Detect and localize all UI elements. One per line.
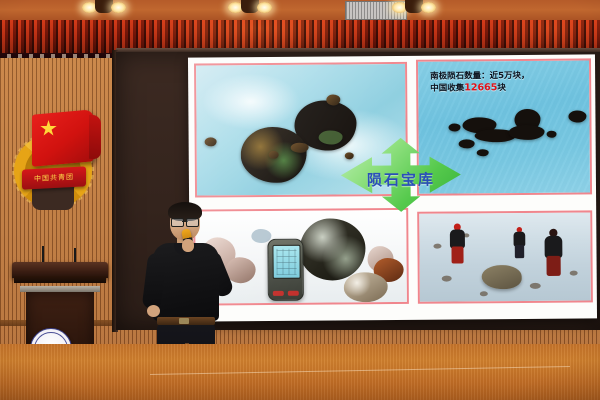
- caption-line-1: 南极陨石数量：近5万块，: [430, 71, 529, 82]
- caption-line-2-suffix: 块: [497, 84, 506, 94]
- photo-expedition-team: [419, 212, 591, 301]
- red-flag-icon: [32, 109, 94, 166]
- caption-line-2-prefix: 中国收集: [430, 84, 464, 94]
- slide-caption: 南极陨石数量：近5万块， 中国收集12665块: [430, 70, 588, 96]
- stage-floor: [0, 344, 600, 400]
- emblem-banner: 中国共青团: [22, 166, 86, 189]
- emblem-banner-text: 中国共青团: [34, 172, 74, 184]
- lecture-hall-scene: 中国共青团: [0, 0, 600, 400]
- caption-highlight-number: 12665: [464, 83, 497, 94]
- communist-youth-league-emblem: 中国共青团: [10, 108, 102, 212]
- ceiling-spotlight: [82, 0, 126, 16]
- ceiling-spotlight: [392, 0, 436, 16]
- ceiling: [0, 0, 600, 22]
- gps-device-icon: [267, 239, 303, 301]
- projection-screen: 南极陨石数量：近5万块， 中国收集12665块: [188, 54, 597, 321]
- eyeglasses-icon: [171, 218, 199, 225]
- slide-panel-bottom-right: [417, 210, 593, 303]
- ceiling-spotlight: [228, 0, 272, 16]
- four-way-arrow-label: 陨石宝库: [341, 168, 461, 190]
